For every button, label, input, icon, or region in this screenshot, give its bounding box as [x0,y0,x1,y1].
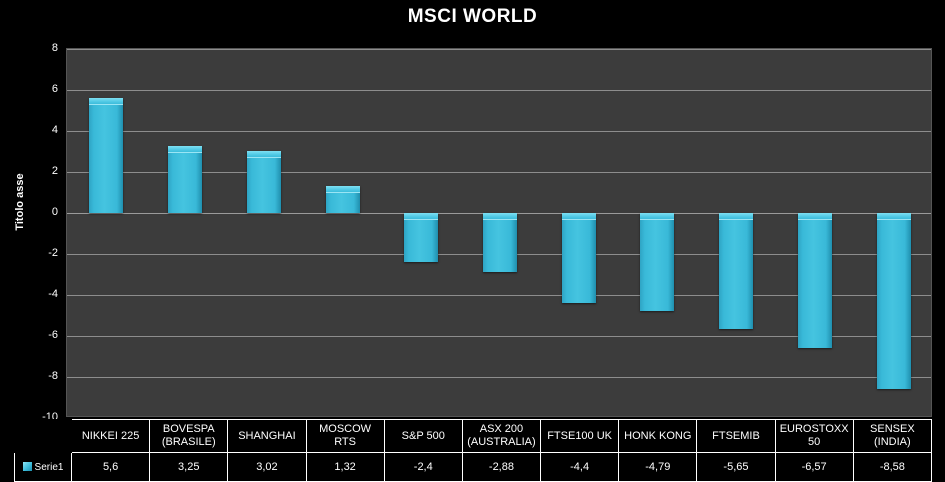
legend-series-cell[interactable]: Serie1 [15,453,72,482]
category-label-line: RTS [309,436,382,449]
bar-slot [224,49,303,416]
category-label-line: 50 [778,436,851,449]
y-tick-label: 2 [52,165,58,177]
bar-slot [382,49,461,416]
table-value-cell: -2,4 [384,453,462,482]
bar-slot [697,49,776,416]
category-label-line: SHANGHAI [230,430,303,443]
category-label-line: HONK KONG [621,430,694,443]
table-header-cell: HONK KONG [619,420,697,453]
y-tick-label: 8 [52,42,58,54]
y-axis-tick-labels: 86420-2-4-6-8-10 [20,48,62,417]
table-value-cell: 3,25 [150,453,228,482]
y-tick-label: 4 [52,124,58,136]
bar[interactable] [877,213,911,389]
category-label-line: FTSE100 UK [543,430,616,443]
chart-container: MSCI WORLD Titolo asse 86420-2-4-6-8-10 … [0,0,945,481]
category-label-line: MOSCOW [309,423,382,436]
category-label-line: (BRASILE) [152,436,225,449]
category-label-line: NIKKEI 225 [74,430,147,443]
table-value-row: Serie1 5,63,253,021,32-2,4-2,88-4,4-4,79… [15,453,932,482]
bar-slot [146,49,225,416]
bar-top-highlight [562,213,596,220]
y-tick-label: -6 [48,329,58,341]
bar[interactable] [719,213,753,329]
bar-slot [854,49,932,416]
table-header-cell: FTSEMIB [697,420,775,453]
bar-top-highlight [404,213,438,220]
bar-slot [618,49,697,416]
bar-slot [776,49,855,416]
table-header-cell: S&P 500 [384,420,462,453]
bar-top-highlight [89,98,123,105]
table-value-cell: -5,65 [697,453,775,482]
bar-slot [303,49,382,416]
bars-layer [67,49,931,416]
data-table: NIKKEI 225BOVESPA(BRASILE)SHANGHAIMOSCOW… [14,419,932,482]
table-header-cell: FTSE100 UK [541,420,619,453]
bar[interactable] [798,213,832,348]
y-tick-label: 0 [52,206,58,218]
table-header-cell: MOSCOWRTS [306,420,384,453]
bar[interactable] [562,213,596,303]
table-header-cell: ASX 200(AUSTRALIA) [462,420,540,453]
bar-top-highlight [640,213,674,220]
bar-top-highlight [168,146,202,153]
bar-top-highlight [247,151,281,158]
table-header-cell: EUROSTOXX50 [775,420,853,453]
legend-swatch-icon [23,462,32,471]
category-label-line: (INDIA) [856,436,929,449]
bar[interactable] [326,186,360,213]
bar-top-highlight [798,213,832,220]
table-value-cell: -4,4 [541,453,619,482]
bar[interactable] [483,213,517,272]
bar[interactable] [247,151,281,213]
bar-slot [539,49,618,416]
table-value-cell: 5,6 [72,453,150,482]
table-value-cell: -4,79 [619,453,697,482]
chart-title: MSCI WORLD [0,6,945,28]
bar-slot [461,49,540,416]
table-value-cell: 3,02 [228,453,306,482]
table-value-cell: 1,32 [306,453,384,482]
table-header-cell: BOVESPA(BRASILE) [150,420,228,453]
table-header-cell: SENSEX(INDIA) [853,420,931,453]
y-tick-label: -2 [48,247,58,259]
table-header-cell: NIKKEI 225 [72,420,150,453]
bar-top-highlight [326,186,360,193]
y-tick-label: -8 [48,370,58,382]
bar[interactable] [640,213,674,311]
bar-top-highlight [877,213,911,220]
legend-header-spacer [15,420,72,453]
category-label-line: ASX 200 [465,423,538,436]
category-label-line: S&P 500 [387,430,460,443]
bar[interactable] [89,98,123,213]
plot-area [66,48,932,417]
bar[interactable] [168,146,202,213]
bar-top-highlight [719,213,753,220]
table-header-cell: SHANGHAI [228,420,306,453]
category-label-line: FTSEMIB [699,430,772,443]
bar-slot [67,49,146,416]
table-header-row: NIKKEI 225BOVESPA(BRASILE)SHANGHAIMOSCOW… [15,420,932,453]
bar[interactable] [404,213,438,262]
category-label-line: (AUSTRALIA) [465,436,538,449]
bar-top-highlight [483,213,517,220]
category-label-line: BOVESPA [152,423,225,436]
table-value-cell: -2,88 [462,453,540,482]
legend-series-label: Serie1 [35,462,64,473]
table-value-cell: -6,57 [775,453,853,482]
category-label-line: EUROSTOXX [778,423,851,436]
y-tick-label: 6 [52,83,58,95]
y-tick-label: -4 [48,288,58,300]
category-label-line: SENSEX [856,423,929,436]
table-value-cell: -8,58 [853,453,931,482]
